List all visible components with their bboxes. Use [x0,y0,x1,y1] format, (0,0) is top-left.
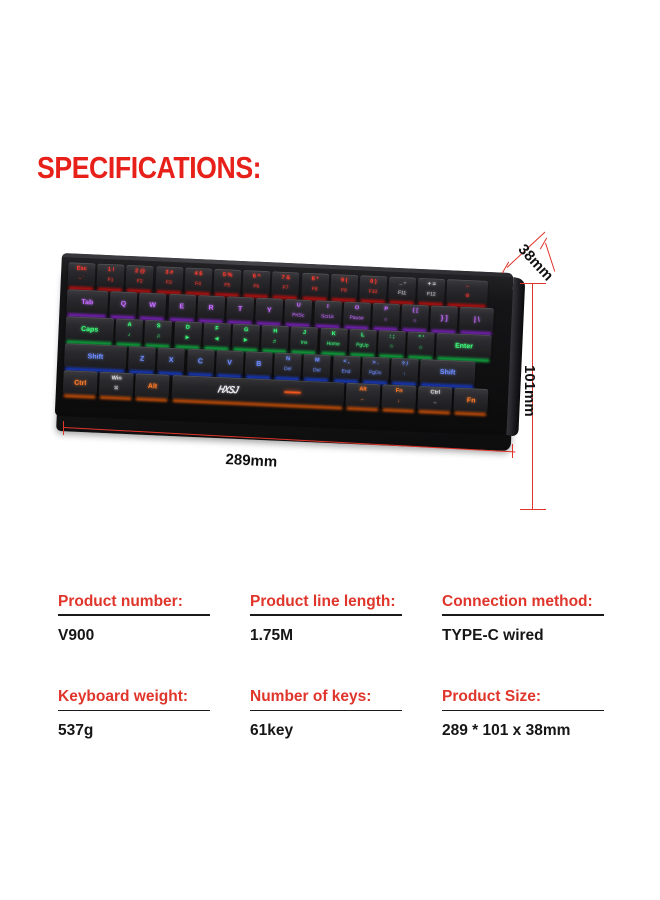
keycap[interactable]: LPgUp [349,329,377,354]
keycap-secondary-legend: ☼ [401,318,428,324]
dimension-width: 289mm [60,411,530,491]
keycap-primary-legend: H [262,329,289,336]
keycap-secondary-legend: ▶ [174,335,201,341]
keycap[interactable]: 2 @F2 [126,265,154,290]
keycap-secondary-legend: F5 [214,282,241,288]
keycap[interactable]: X [157,347,185,372]
keycap-primary-legend: 8 * [301,277,328,284]
keycap-primary-legend: } ] [431,314,458,322]
keycap[interactable]: 6 ^F6 [242,270,270,295]
keycap[interactable]: A♪ [115,318,143,343]
keycap-primary-legend: V [216,358,243,366]
keycap[interactable]: OPause [343,302,371,327]
keycap-primary-legend: Esc [68,266,95,273]
keycap-primary-legend: F [203,327,230,334]
keycap[interactable]: 9 (F9 [330,274,358,299]
keycap-secondary-legend: Del [274,366,301,372]
keycap-primary-legend: : ; [378,334,405,341]
spec-value: 1.75M [250,626,442,645]
keycap-primary-legend: + = [418,282,445,289]
keycap[interactable]: | \ [459,307,494,332]
keycap[interactable]: B [245,351,273,376]
keycap[interactable]: 0 )F10 [359,275,387,300]
keycap[interactable]: Esc~ ` [68,262,96,287]
keycap-secondary-legend: F4 [184,281,211,287]
keycap-primary-legend: A [116,323,143,330]
keycap[interactable]: ←⚙ [447,279,489,305]
keycap-primary-legend: 1 ! [97,268,124,275]
keycap-primary-legend: G [233,328,260,335]
keycap-secondary-legend: ▶ [232,337,259,343]
spec-underline [442,614,604,616]
keycap[interactable]: KHome [319,328,347,353]
keycap[interactable]: Shift [64,343,127,370]
keycap[interactable]: { [☼ [401,304,429,329]
keycap[interactable]: NDel [274,353,302,378]
keycap-primary-legend: < , [333,359,360,366]
keycap-secondary-legend: F10 [359,289,386,295]
keycap-secondary-legend: F2 [126,278,153,284]
keycap[interactable]: UPrtSc [284,299,312,324]
spec-label: Product number: [58,592,250,611]
spec-cell-keyboard-weight: Keyboard weight: 537g [58,687,250,740]
keycap[interactable]: 4 $F4 [184,267,212,292]
specifications-page: SPECIFICATIONS: Esc~ `1 !F12 @F23 #F34 $… [0,0,660,900]
keycap-primary-legend: { [ [402,308,429,315]
keycap[interactable]: Ctrl→ [417,386,452,411]
keycap-primary-legend: 6 ^ [243,274,270,281]
keycap-secondary-legend: ~ ` [68,276,95,282]
keycap-primary-legend: L [349,333,376,340]
keycap[interactable]: IScrLk [314,300,342,325]
keycap-secondary-legend: ◀ [203,336,230,342]
keycap[interactable]: 1 !F1 [97,264,125,289]
spec-row: Keyboard weight: 537g Number of keys: 61… [58,687,618,740]
keycap-primary-legend: J [291,330,318,337]
keycap-secondary-legend: Ins [290,340,317,346]
dimension-width-label: 289mm [225,451,278,471]
keycap-primary-legend: N [274,357,301,364]
keycap[interactable]: < ,End [332,355,360,380]
keycap-primary-legend: > . [362,361,389,368]
spec-underline [250,614,402,616]
keycap-secondary-legend: ☼ [372,316,399,322]
keycap-primary-legend: | \ [460,315,494,324]
keycap-secondary-legend: → [418,399,452,406]
keycap-primary-legend: B [245,360,272,368]
keycap[interactable]: C [186,349,214,374]
keycap-secondary-legend: Home [320,341,347,347]
keycap-primary-legend: W [139,301,166,309]
keycap-primary-legend: Shift [420,368,475,377]
keycap[interactable]: Z [128,346,156,371]
spec-underline [250,710,402,712]
keycap[interactable]: " '☆ [407,331,435,356]
keycap-primary-legend: S [145,324,172,331]
keycap[interactable]: D▶ [174,321,202,346]
keycap-primary-legend: Fn [454,396,488,405]
spec-label: Product Size: [442,687,634,706]
keycap[interactable]: + =F12 [417,278,445,303]
keycap-secondary-legend: ⚙ [447,293,488,300]
keycap-secondary-legend: End [332,369,359,375]
keycap-secondary-legend: PrtSc [285,312,312,318]
spec-value: 537g [58,721,250,740]
spec-value: 289 * 101 x 38mm [442,721,634,740]
keycap-secondary-legend: F6 [243,284,270,290]
page-title: SPECIFICATIONS: [37,150,261,186]
keycap-primary-legend: M [304,358,331,365]
keycap[interactable]: Fn [454,388,489,413]
keycap-secondary-legend: ☆ [407,345,434,351]
keyboard-top-plate: Esc~ `1 !F12 @F23 #F34 $F45 %F56 ^F67 &F… [55,253,514,436]
specifications-table: Product number: V900 Product line length… [58,592,618,783]
keycap[interactable]: Fn↓ [381,384,416,409]
keycap[interactable]: Q [109,291,137,316]
keycap-secondary-legend: F11 [389,290,416,296]
keycap-secondary-legend: ♬ [261,338,288,344]
keycap[interactable]: E [168,294,196,319]
spec-label: Connection method: [442,592,634,611]
keycap-primary-legend: O [343,306,370,313]
keycap-primary-legend: ← [447,283,488,290]
spec-cell-product-line-length: Product line length: 1.75M [250,592,442,645]
keycap-primary-legend: U [285,303,312,310]
keycap[interactable]: } ] [430,305,458,330]
keycap[interactable]: : ;☆ [378,330,406,355]
spec-underline [442,710,604,712]
keycap-primary-legend: 2 @ [126,269,153,276]
keycap[interactable]: 8 *F8 [301,273,329,298]
keycap-primary-legend: P [373,307,400,314]
keycap-primary-legend: K [320,332,347,339]
keycap-secondary-legend: ⌘ [99,385,133,392]
keycap[interactable]: _ -F11 [388,277,416,302]
keycap[interactable]: Ctrl [63,370,98,395]
keycap[interactable]: P☼ [372,303,400,328]
keycap[interactable]: Win⌘ [99,372,134,397]
keycap[interactable]: S♫ [144,320,172,345]
keycap-secondary-legend: PgDn [362,370,389,376]
keycap-secondary-legend: ↓ [382,398,416,405]
keycap[interactable]: 7 &F7 [272,271,300,296]
keycap[interactable]: F◀ [203,322,231,347]
spec-value: 61key [250,721,442,740]
keycap-secondary-legend: Del [303,367,330,373]
dimension-height-label: 101mm [521,365,538,417]
keycap-secondary-legend: F1 [97,277,124,283]
keycap-secondary-legend: F7 [272,285,299,291]
keycap-primary-legend: 3 # [156,270,183,277]
keycap[interactable]: W [139,292,167,317]
spec-value: V900 [58,626,250,645]
keycap-primary-legend: Tab [67,298,108,307]
keycap-secondary-legend: F12 [418,291,445,297]
keycap[interactable]: JIns [290,326,318,351]
keycap[interactable]: Shift [420,359,476,385]
keycap-secondary-legend: ScrLk [314,314,341,320]
keycap-primary-legend: Alt [346,387,380,394]
spec-label: Product line length: [250,592,442,611]
keycap[interactable]: Y [255,298,283,323]
keycap[interactable]: 3 #F3 [155,266,183,291]
keycap-primary-legend: Alt [135,382,169,391]
keycap-secondary-legend: F9 [330,287,357,293]
keycap-primary-legend: X [158,356,185,364]
keycap-primary-legend: 4 $ [185,272,212,279]
keycap[interactable]: Alt [135,373,170,398]
spec-row: Product number: V900 Product line length… [58,592,618,645]
keycap[interactable]: G▶ [232,324,260,349]
spec-underline [58,710,210,712]
keycap[interactable]: Caps [65,316,114,342]
keycap-primary-legend: Enter [436,341,491,350]
keycap[interactable]: Alt← [345,383,380,408]
keycap-secondary-legend: ← [345,396,379,403]
keycap-primary-legend: C [187,357,214,365]
keycap-secondary-legend: Pause [343,315,370,321]
brand-logo: HXSJ [216,383,238,395]
keycap-primary-legend: Ctrl [63,379,97,388]
keycap[interactable]: Tab [66,289,108,315]
keycap-secondary-legend: ↑ [391,371,418,377]
spec-label: Number of keys: [250,687,442,706]
keycap-primary-legend: Caps [66,325,114,334]
keycap[interactable]: V [216,350,244,375]
keycap-primary-legend: Y [256,306,283,314]
product-image: Esc~ `1 !F12 @F23 #F34 $F45 %F56 ^F67 &F… [0,215,660,535]
keycap-primary-legend: R [197,304,224,312]
keycap-primary-legend: D [174,325,201,332]
keycap[interactable]: ? /↑ [390,358,418,383]
keycap-primary-legend: " ' [407,336,434,343]
spacebar-led [284,391,301,394]
keycap-primary-legend: E [168,302,195,310]
spec-cell-number-of-keys: Number of keys: 61key [250,687,442,740]
keycap-secondary-legend: F8 [301,286,328,292]
keycap-primary-legend: Ctrl [418,390,452,397]
keycap-primary-legend: Fn [382,389,416,396]
keycap-primary-legend: 7 & [272,276,299,283]
keycap-primary-legend: T [226,305,253,313]
keycap-primary-legend: Shift [64,352,126,362]
keycap[interactable]: H♬ [261,325,289,350]
keycap-primary-legend: I [314,304,341,311]
spec-cell-product-size: Product Size: 289 * 101 x 38mm [442,687,634,740]
keycap-secondary-legend: F3 [155,280,182,286]
keycap-primary-legend: _ - [389,281,416,288]
spec-cell-product-number: Product number: V900 [58,592,250,645]
spec-label: Keyboard weight: [58,687,250,706]
keycap-secondary-legend: ☆ [378,344,405,350]
keycap[interactable]: T [226,296,254,321]
keycap-primary-legend: ? / [391,362,418,369]
keycap-primary-legend: 9 ( [331,278,358,285]
keycap-primary-legend: 0 ) [360,279,387,286]
keycap[interactable]: R [197,295,225,320]
keycap[interactable]: MDel [303,354,331,379]
keycap-primary-legend: 5 % [214,273,241,280]
keycap-secondary-legend: ♪ [116,332,143,338]
keycap[interactable]: 5 %F5 [213,269,241,294]
spec-cell-connection-method: Connection method: TYPE-C wired [442,592,634,645]
keycap-primary-legend: Q [110,300,137,308]
spec-underline [58,614,210,616]
keycap-secondary-legend: ♫ [145,333,172,339]
keycap-secondary-legend: PgUp [349,342,376,348]
keycap[interactable]: > .PgDn [361,356,389,381]
keycap-primary-legend: Win [100,376,134,383]
keycap-primary-legend: Z [128,355,155,363]
keycap[interactable]: Enter [436,333,492,359]
spec-value: TYPE-C wired [442,626,634,645]
